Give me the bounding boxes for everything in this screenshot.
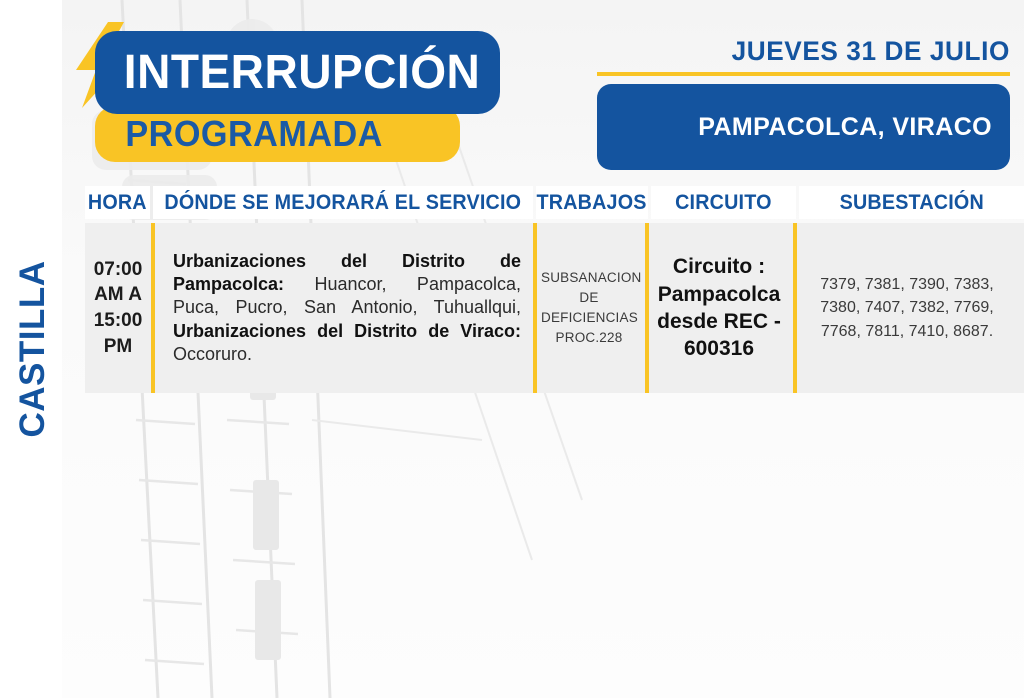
table-header-row: HORA DÓNDE SE MEJORARÁ EL SERVICIO TRABA… bbox=[85, 186, 1024, 219]
column-header-trabajos: TRABAJOS bbox=[536, 186, 648, 219]
date-text: JUEVES 31 DE JULIO bbox=[732, 36, 1010, 67]
column-header-donde: DÓNDE SE MEJORARÁ EL SERVICIO bbox=[153, 186, 533, 219]
cell-trabajos: SUBSANACION DE DEFICIENCIAS PROC.228 bbox=[533, 223, 645, 393]
cell-circuito: Circuito : Pampacolca desde REC - 600316 bbox=[645, 223, 793, 393]
trabajos-value: SUBSANACION DE DEFICIENCIAS PROC.228 bbox=[541, 268, 637, 349]
date-underline-rule bbox=[597, 72, 1010, 76]
column-header-subestacion: SUBESTACIÓN bbox=[799, 186, 1024, 219]
subestacion-value: 7379, 7381, 7390, 7383, 7380, 7407, 7382… bbox=[801, 273, 1013, 343]
zone-text: PAMPACOLCA, VIRACO bbox=[698, 113, 1010, 142]
donde-group2-items: Occoruro. bbox=[173, 344, 252, 364]
column-header-hora: HORA bbox=[85, 186, 150, 219]
column-header-circuito: CIRCUITO bbox=[651, 186, 797, 219]
circuito-value: Circuito : Pampacolca desde REC - 600316 bbox=[653, 253, 785, 362]
subtitle-text: PROGRAMADA bbox=[95, 113, 383, 155]
province-label: CASTILLA bbox=[2, 254, 64, 444]
donde-value: Urbanizaciones del Distrito de Pampacolc… bbox=[159, 250, 525, 365]
title-banner: INTERRUPCIÓN bbox=[95, 31, 500, 114]
outage-table: HORA DÓNDE SE MEJORARÁ EL SERVICIO TRABA… bbox=[85, 186, 1024, 393]
subtitle-banner: PROGRAMADA bbox=[95, 106, 460, 162]
cell-subestacion: 7379, 7381, 7390, 7383, 7380, 7407, 7382… bbox=[793, 223, 1021, 393]
donde-group2-label: Urbanizaciones del Distrito de Viraco: bbox=[173, 321, 521, 341]
title-text: INTERRUPCIÓN bbox=[95, 45, 480, 100]
cell-donde: Urbanizaciones del Distrito de Pampacolc… bbox=[151, 223, 533, 393]
hora-value: 07:00 AM A 15:00 PM bbox=[93, 257, 143, 360]
zone-banner: PAMPACOLCA, VIRACO bbox=[597, 84, 1010, 170]
interruption-notice-poster: CASTILLA INTERRUPCIÓN PROGRAMADA JUEVES … bbox=[0, 0, 1024, 698]
date-block: JUEVES 31 DE JULIO bbox=[597, 36, 1010, 76]
table-row: 07:00 AM A 15:00 PM Urbanizaciones del D… bbox=[85, 223, 1024, 393]
cell-hora: 07:00 AM A 15:00 PM bbox=[85, 223, 151, 393]
